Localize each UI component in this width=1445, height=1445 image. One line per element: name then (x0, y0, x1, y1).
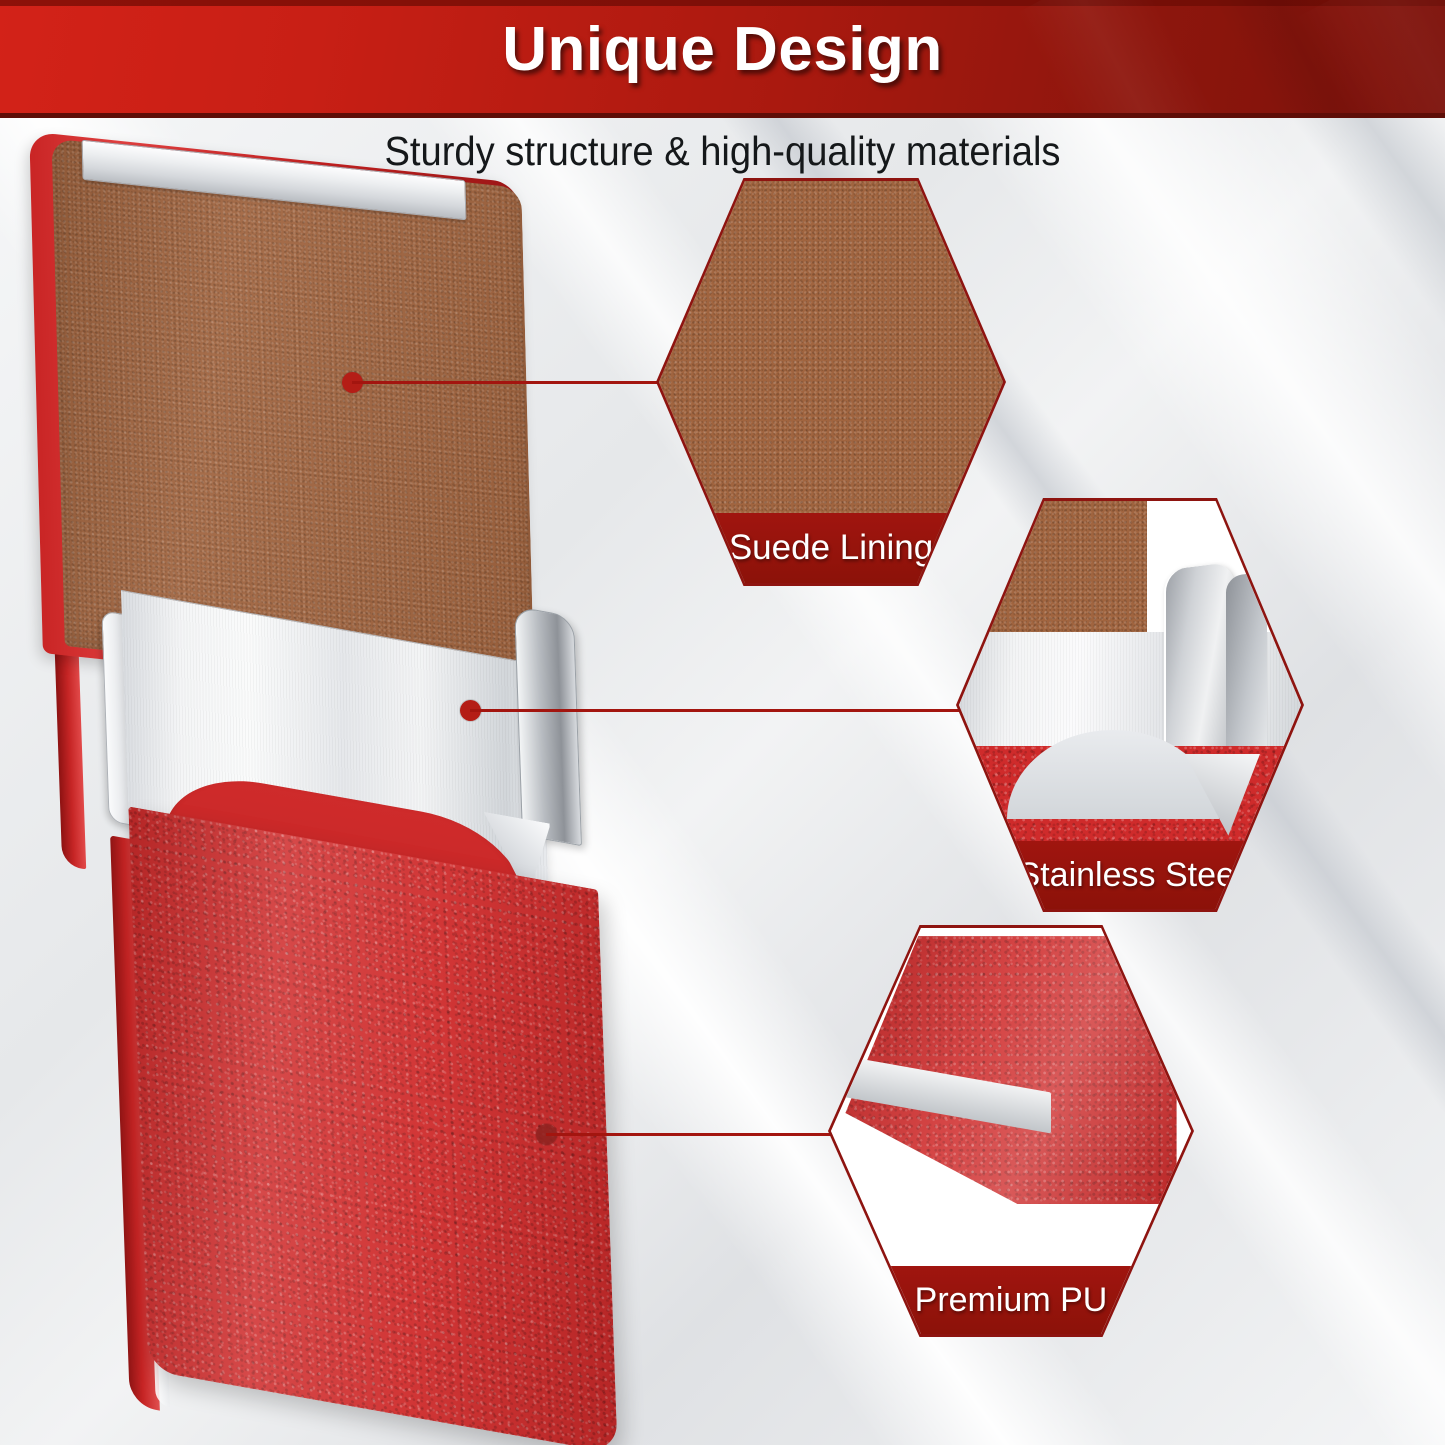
product-illustration (20, 150, 720, 1430)
tray-right-wall (514, 606, 582, 846)
callout-line-pu (546, 1133, 838, 1136)
header-banner: Unique Design (0, 0, 1445, 118)
page-title: Unique Design (0, 14, 1445, 85)
infographic-canvas: Unique Design Sturdy structure & high-qu… (0, 0, 1445, 1445)
callout-line-suede (352, 381, 664, 384)
callout-line-steel (470, 709, 966, 712)
